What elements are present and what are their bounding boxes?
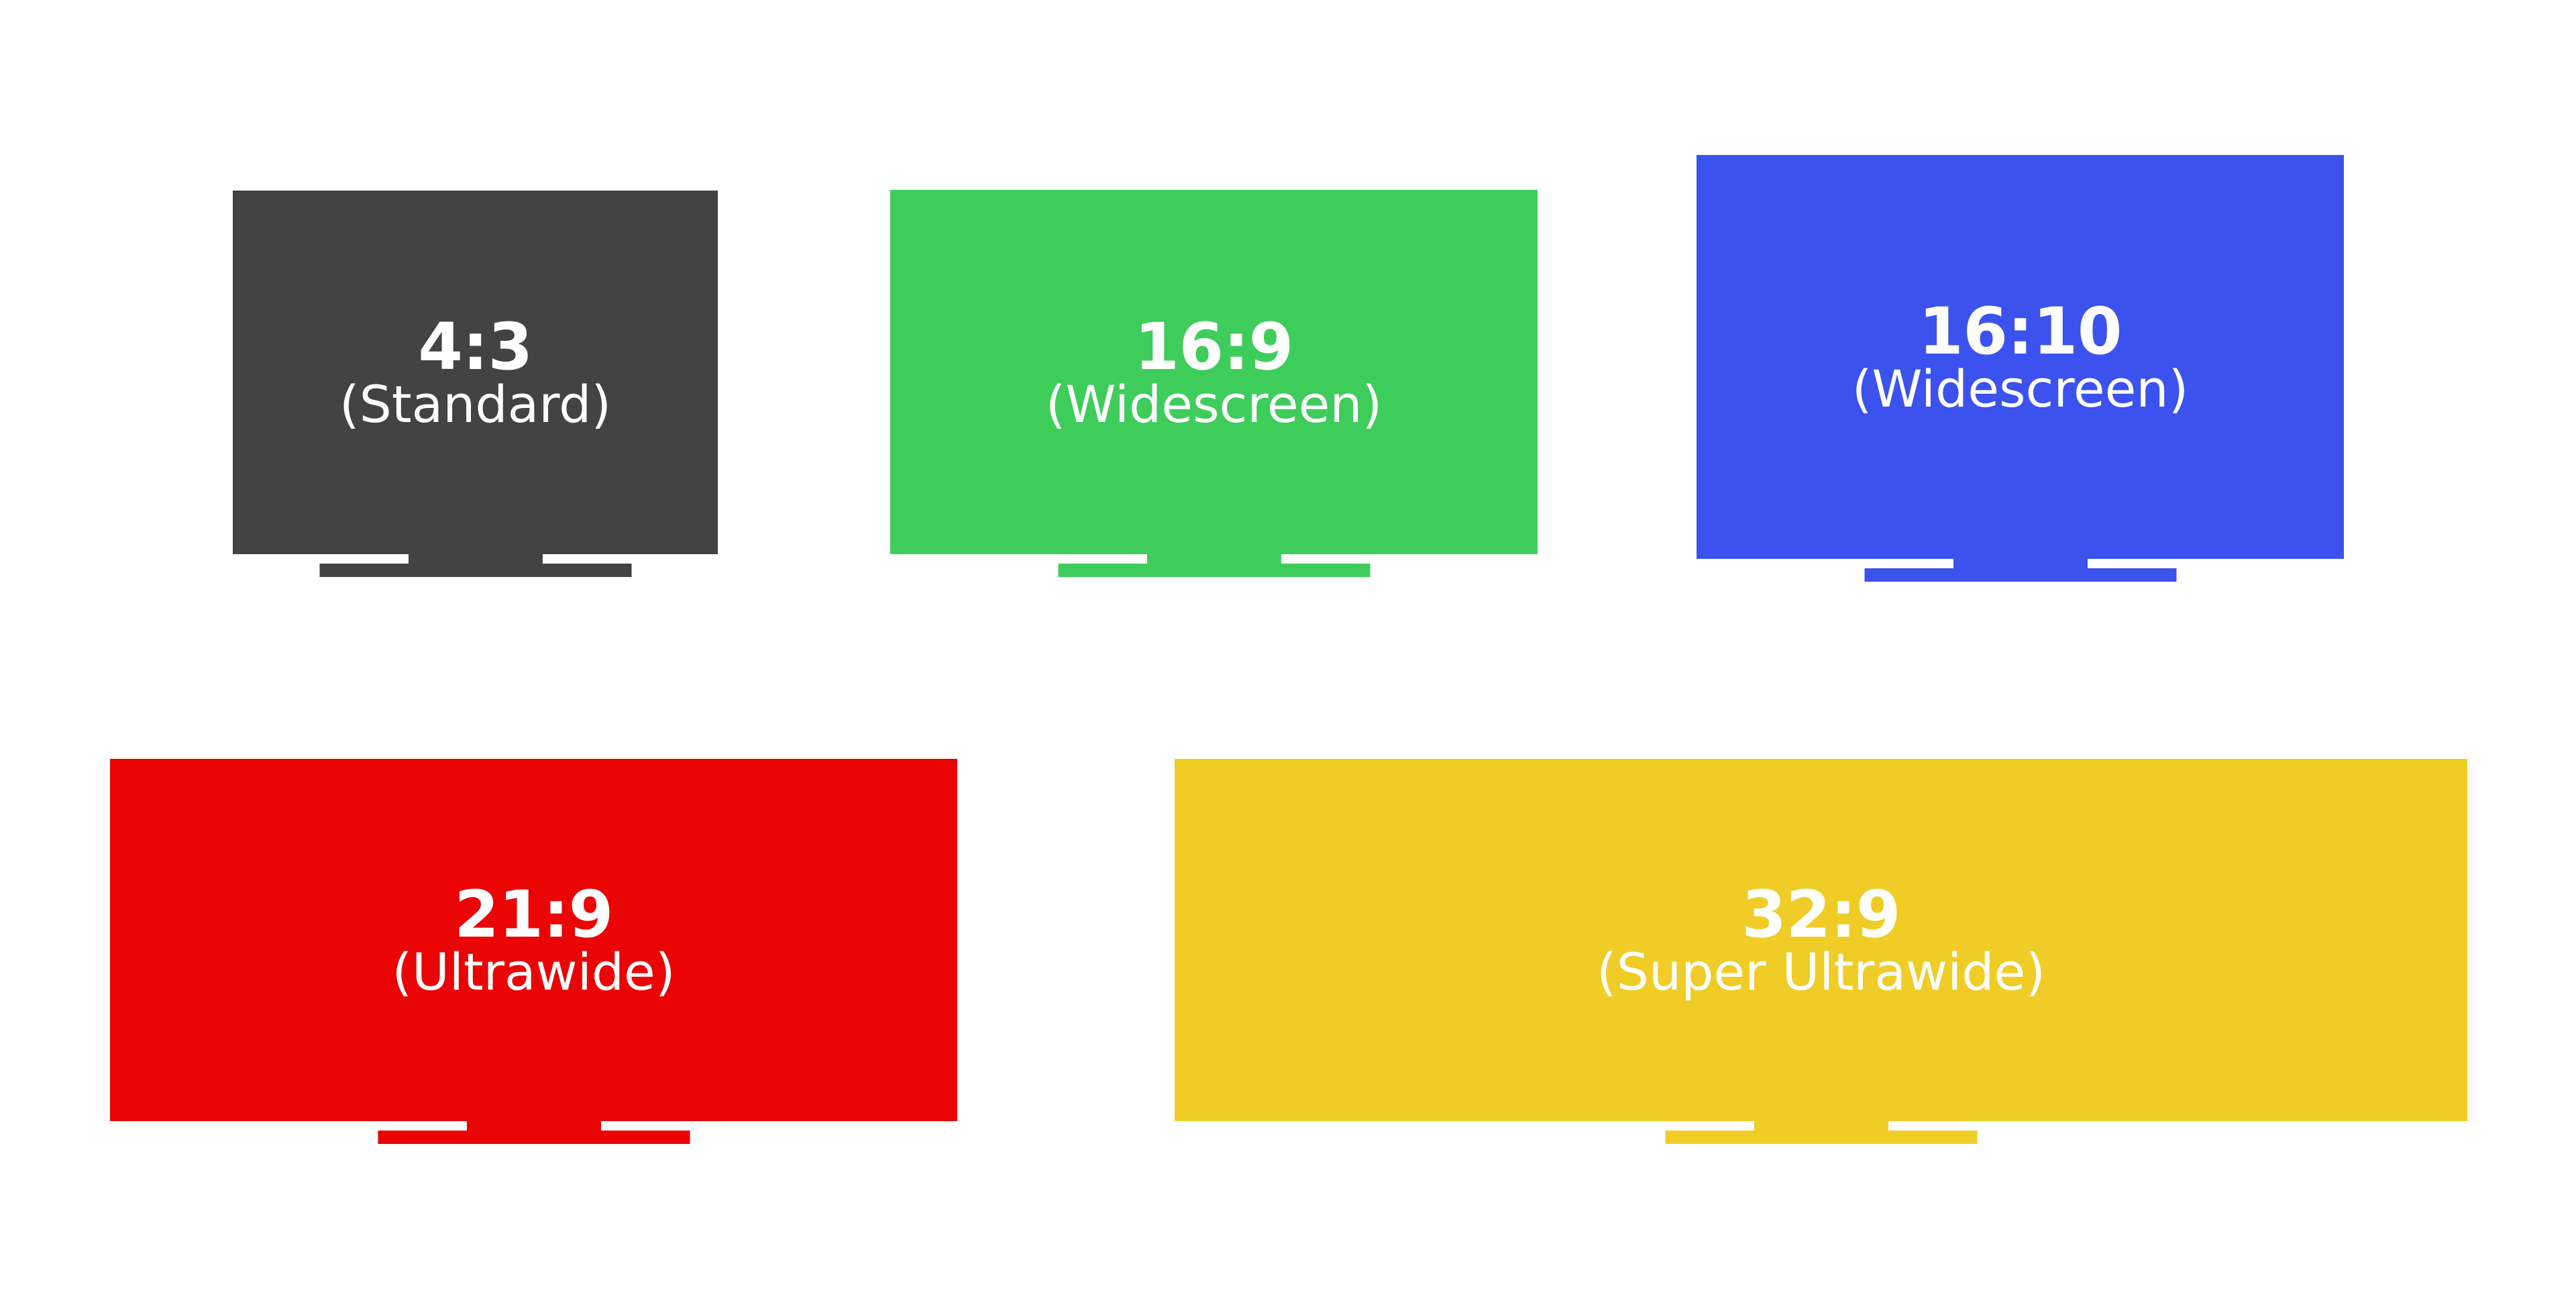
monitor-16-9: 16:9(Widescreen) (890, 190, 1538, 577)
monitor-screen-4-3: 4:3(Standard) (233, 191, 718, 554)
aspect-ratio-name-label: (Widescreen) (1852, 364, 2189, 415)
aspect-ratio-name-label: (Super Ultrawide) (1597, 947, 2045, 998)
aspect-ratio-label: 16:9 (1134, 315, 1293, 379)
monitor-16-10: 16:10(Widescreen) (1697, 155, 2344, 582)
aspect-ratio-label: 4:3 (418, 315, 532, 379)
monitor-32-9: 32:9(Super Ultrawide) (1175, 759, 2467, 1144)
monitor-stand-base (378, 1131, 690, 1144)
monitor-stand-base (1058, 564, 1370, 577)
monitor-stand-base (319, 564, 631, 577)
monitor-stand-neck (1147, 554, 1281, 564)
monitor-stand-neck (1754, 1121, 1888, 1131)
monitor-21-9: 21:9(Ultrawide) (110, 759, 957, 1144)
monitor-stand-base (1864, 568, 2176, 582)
aspect-ratio-label: 32:9 (1741, 882, 1900, 947)
monitor-stand-neck (409, 554, 543, 564)
monitor-stand-neck (467, 1121, 601, 1131)
monitor-4-3: 4:3(Standard) (233, 191, 718, 577)
monitor-stand-base (1665, 1131, 1977, 1144)
monitor-screen-16-9: 16:9(Widescreen) (890, 190, 1538, 554)
monitor-screen-21-9: 21:9(Ultrawide) (110, 759, 957, 1121)
aspect-ratio-label: 16:10 (1919, 299, 2122, 364)
aspect-ratio-label: 21:9 (454, 882, 613, 947)
monitor-screen-32-9: 32:9(Super Ultrawide) (1175, 759, 2467, 1121)
monitor-screen-16-10: 16:10(Widescreen) (1697, 155, 2344, 559)
aspect-ratio-name-label: (Standard) (339, 379, 611, 430)
aspect-ratio-comparison-canvas: 4:3(Standard)16:9(Widescreen)16:10(Wides… (0, 0, 2576, 1309)
aspect-ratio-name-label: (Widescreen) (1046, 379, 1383, 430)
aspect-ratio-name-label: (Ultrawide) (392, 947, 676, 998)
monitor-stand-neck (1953, 559, 2088, 568)
